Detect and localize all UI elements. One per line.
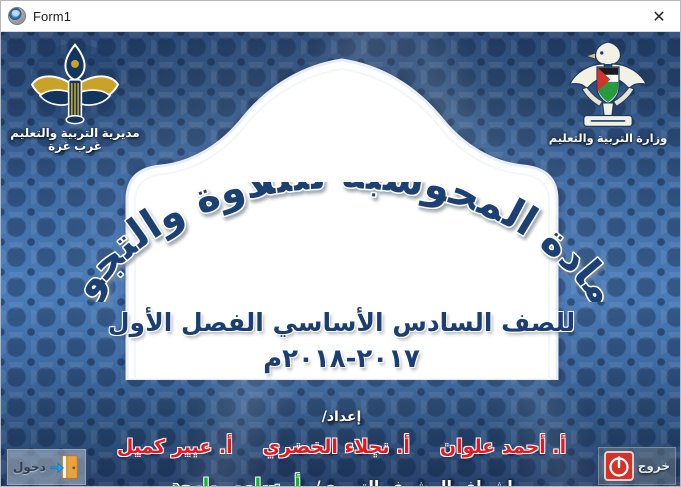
ministry-logo-block: وزارة التربية والتعليم <box>540 38 676 146</box>
form-canvas: مديرية التربية والتعليم غرب غزة <box>1 32 681 487</box>
supervisor-label: إشراف المشرف التربوي/ <box>315 477 513 487</box>
exit-button[interactable]: خروج <box>598 447 676 485</box>
directorate-logo-caption: مديرية التربية والتعليم غرب غزة <box>7 127 143 154</box>
app-window: Form1 ✕ <box>0 0 681 487</box>
page-title: المادة المحوسبة للتلاوة والتجويد <box>1 182 681 302</box>
authors-list: أ. أحمد علوان أ. نجلاء الخضري أ. عبير كم… <box>1 436 681 458</box>
palestine-eagle-emblem <box>565 38 651 132</box>
directorate-logo-block: مديرية التربية والتعليم غرب غزة <box>7 40 143 154</box>
page-title-text: المادة المحوسبة للتلاوة والتجويد <box>1 182 629 302</box>
author-name: أ. نجلاء الخضري <box>263 436 410 458</box>
directorate-caption-line2: غرب غزة <box>7 140 143 153</box>
vs-form-icon <box>8 7 26 25</box>
ministry-logo-caption: وزارة التربية والتعليم <box>540 133 676 146</box>
ministry-caption-line1: وزارة التربية والتعليم <box>540 133 676 146</box>
supervisor-name: أ. سامي بارود <box>170 475 301 487</box>
supervisor-line: إشراف المشرف التربوي/ أ. سامي بارود <box>1 475 681 487</box>
prepared-by-label: إعداد/ <box>1 409 681 425</box>
title-bar: Form1 ✕ <box>1 1 681 32</box>
exit-button-label: خروج <box>638 459 670 473</box>
directorate-of-education-emblem <box>27 40 123 126</box>
enter-button-label: دخول <box>13 460 46 474</box>
close-icon[interactable]: ✕ <box>636 1 681 31</box>
page-subtitle: للصف السادس الأساسي الفصل الأول <box>1 308 681 337</box>
window-title: Form1 <box>33 9 71 24</box>
author-name: أ. عبير كميل <box>117 436 233 458</box>
academic-year: ٢٠١٧-٢٠١٨م <box>1 344 681 374</box>
author-name: أ. أحمد علوان <box>440 436 566 458</box>
enter-button[interactable]: دخول <box>7 449 86 485</box>
power-off-icon <box>604 451 634 481</box>
door-enter-icon <box>50 453 80 481</box>
svg-text:المادة المحوسبة للتلاوة والتجو: المادة المحوسبة للتلاوة والتجويد <box>1 182 629 302</box>
